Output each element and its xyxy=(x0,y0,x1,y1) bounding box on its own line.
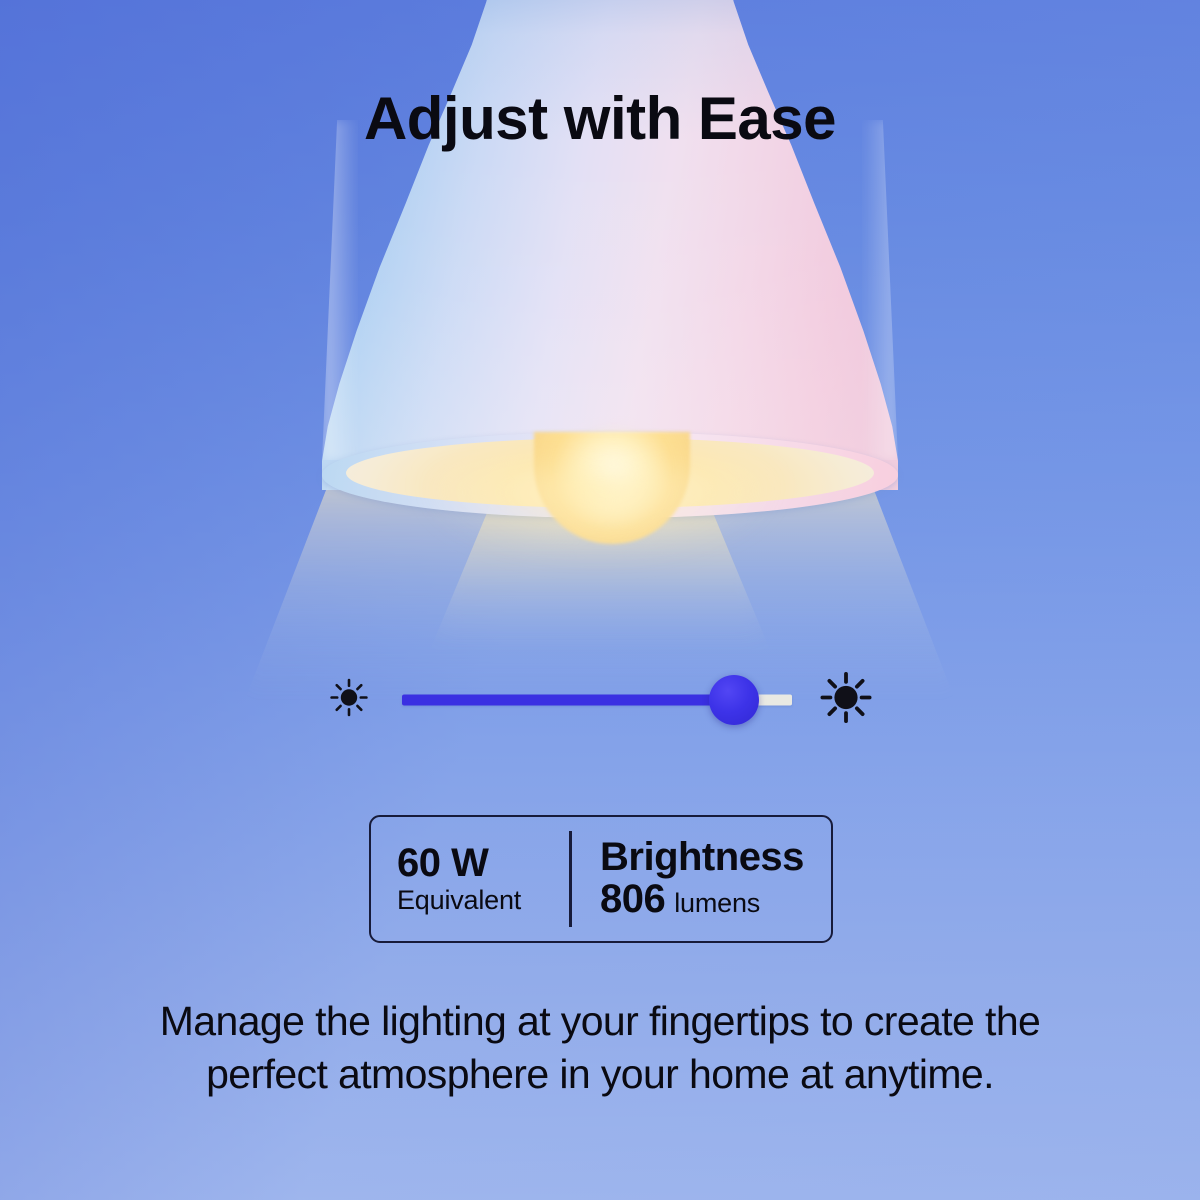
bulb-inner-cavity xyxy=(346,438,874,508)
caption: Manage the lighting at your fingertips t… xyxy=(90,995,1110,1102)
spec-wattage: 60 W Equivalent xyxy=(371,817,569,941)
page-title: Adjust with Ease xyxy=(0,84,1200,153)
spec-brightness-unit: lumens xyxy=(674,888,760,918)
brightness-slider[interactable] xyxy=(320,660,880,740)
bulb-underglow xyxy=(420,470,780,620)
spec-wattage-value: 60 W xyxy=(397,843,569,885)
caption-line-1: Manage the lighting at your fingertips t… xyxy=(90,995,1110,1048)
slider-track[interactable] xyxy=(402,680,792,720)
sun-small-icon xyxy=(328,677,370,724)
bulb-shade xyxy=(322,0,898,490)
slider-track-fill xyxy=(402,695,734,706)
bulb-edge-highlight-left xyxy=(322,120,358,460)
product-feature-image: Adjust with Ease xyxy=(0,0,1200,1200)
spec-brightness-value: 806 xyxy=(600,879,665,921)
bulb-led-hemisphere xyxy=(534,432,690,544)
bulb-shade-shading xyxy=(322,0,898,490)
spec-wattage-label: Equivalent xyxy=(397,885,569,915)
bulb-rim xyxy=(322,432,898,518)
spec-brightness: Brightness 806 lumens xyxy=(572,817,831,941)
bulb-led-core-glow xyxy=(568,436,660,522)
bulb-edge-highlight-right xyxy=(862,120,898,460)
caption-line-2: perfect atmosphere in your home at anyti… xyxy=(90,1048,1110,1101)
sun-large-icon xyxy=(818,670,874,731)
spec-brightness-label: Brightness xyxy=(600,837,831,879)
specs-box: 60 W Equivalent Brightness 806 lumens xyxy=(369,815,833,943)
light-beam-core xyxy=(430,470,770,650)
slider-thumb[interactable] xyxy=(709,675,759,725)
